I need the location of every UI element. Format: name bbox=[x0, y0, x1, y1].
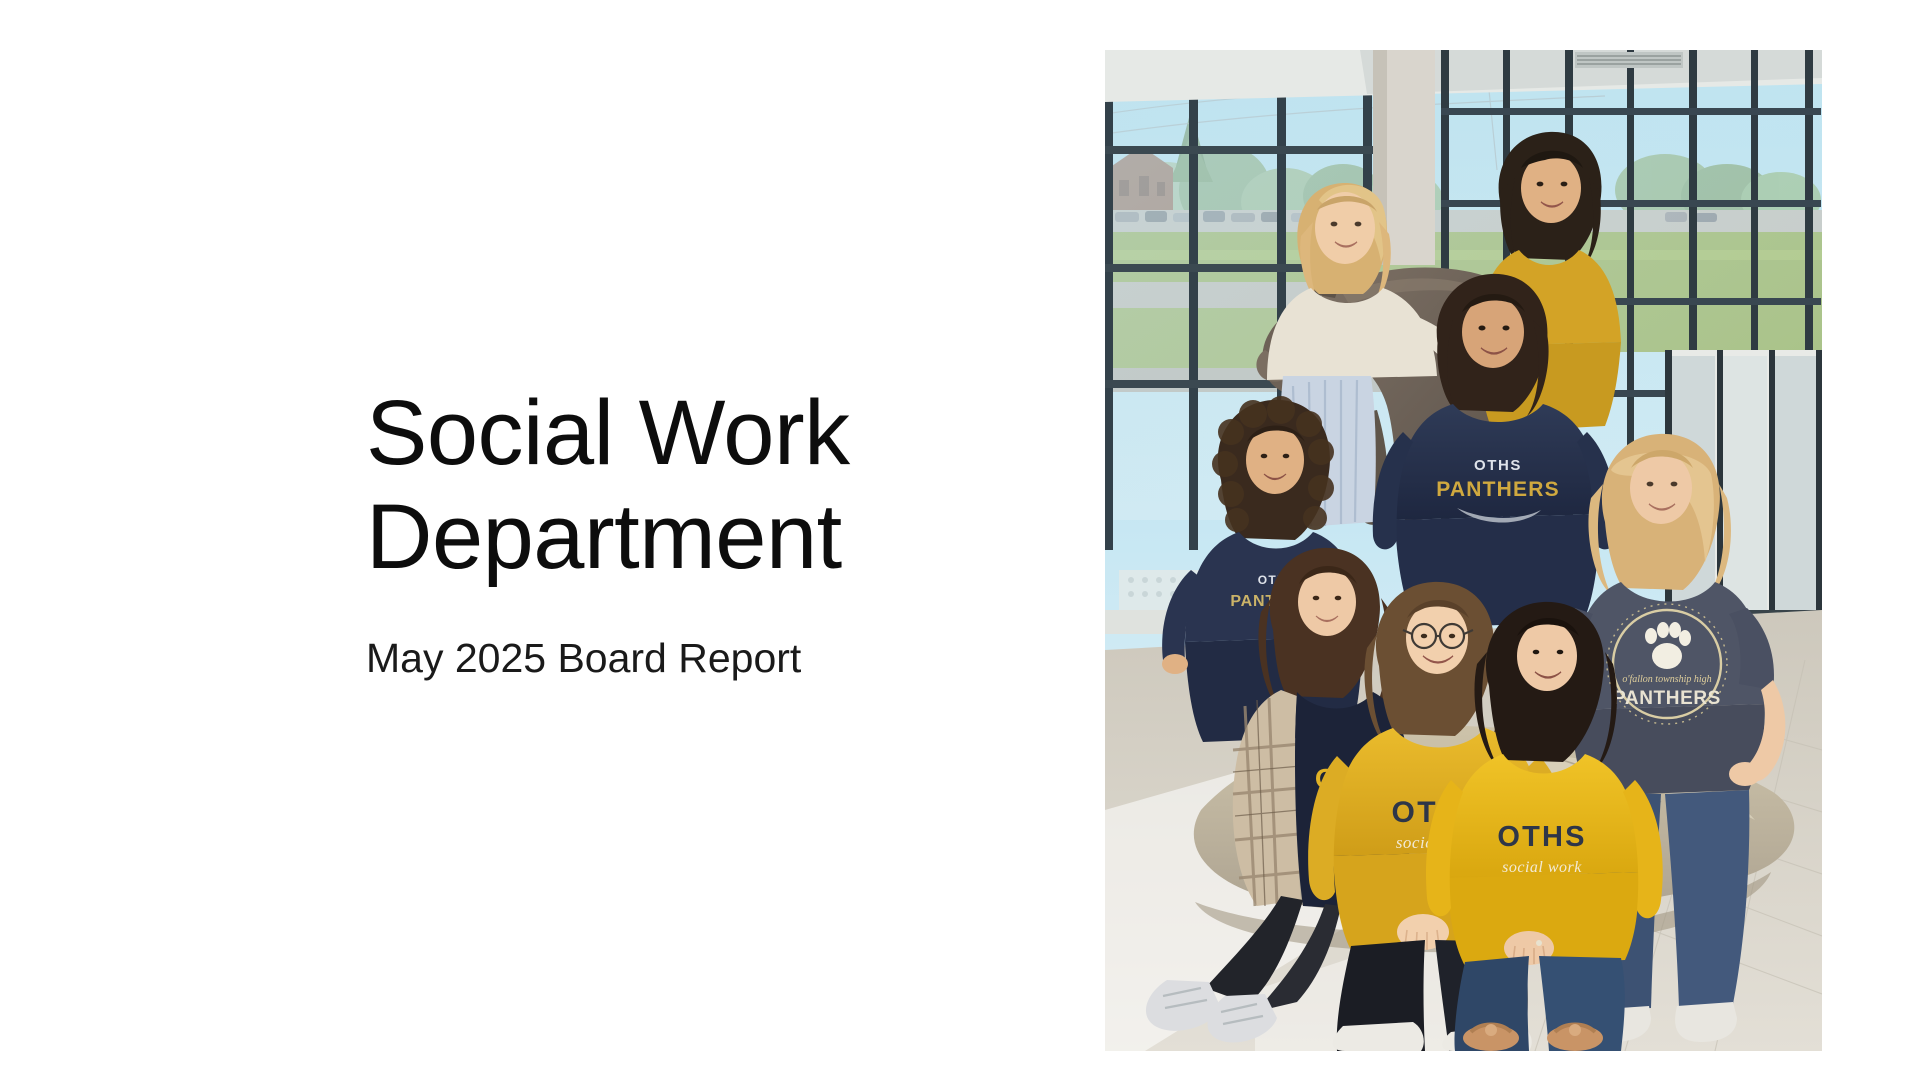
photo-gray-tee-script-text: o'fallon township high bbox=[1622, 674, 1711, 685]
photo-gold-sweatshirt-right-oths-text: OTHS bbox=[1497, 821, 1586, 853]
slide-subtitle: May 2025 Board Report bbox=[366, 590, 986, 683]
title-text-block: Social Work Department May 2025 Board Re… bbox=[366, 382, 986, 683]
page-title: Social Work Department bbox=[366, 382, 986, 590]
photo-ceiling-vent bbox=[1575, 52, 1683, 68]
photo-gray-tee-panthers-text: PANTHERS bbox=[1613, 688, 1721, 709]
department-group-photo: OTHS PANTHERS bbox=[1105, 50, 1822, 1051]
photo-gold-sweatshirt-right-script-text: social work bbox=[1502, 859, 1582, 876]
slide-canvas: Social Work Department May 2025 Board Re… bbox=[0, 0, 1920, 1080]
photo-sneaker-center-a bbox=[1333, 1022, 1424, 1051]
photo-navy-sweatshirt-oths-text: OTHS bbox=[1474, 457, 1522, 474]
photo-illustration: OTHS PANTHERS bbox=[1105, 50, 1822, 1051]
photo-navy-sweatshirt-panthers-text: PANTHERS bbox=[1436, 478, 1560, 501]
